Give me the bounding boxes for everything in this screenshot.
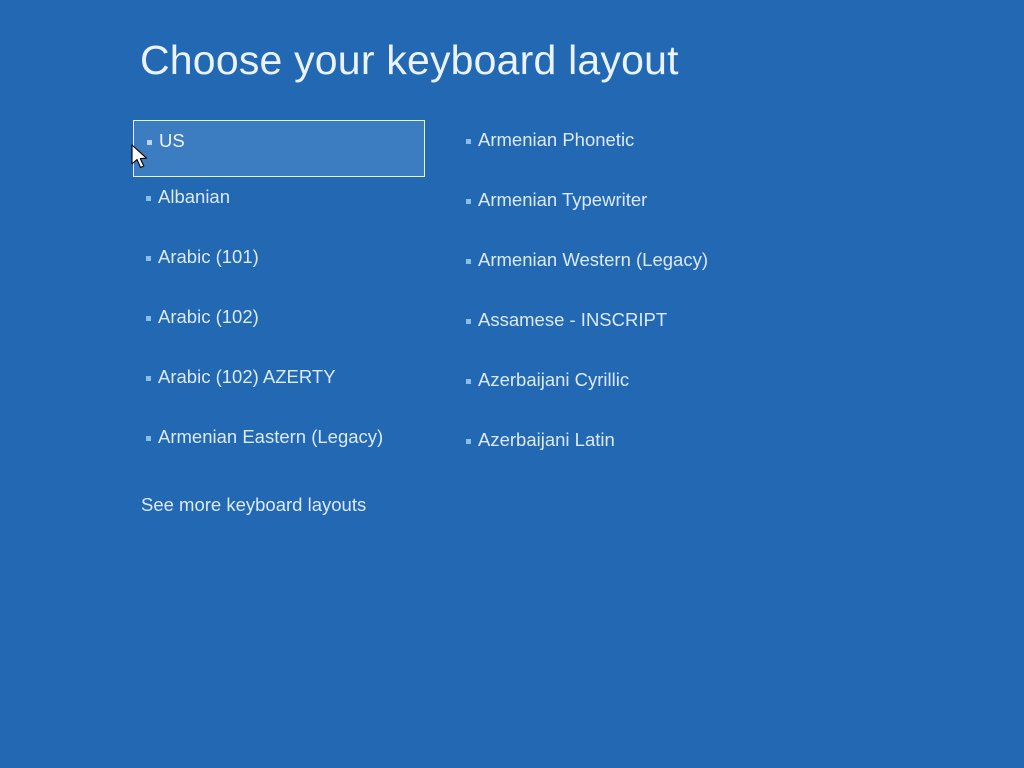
keyboard-layout-label: Azerbaijani Latin: [478, 429, 615, 451]
keyboard-layout-option[interactable]: Assamese - INSCRIPT: [455, 300, 785, 360]
square-bullet-icon: [146, 256, 151, 261]
keyboard-layout-option[interactable]: Azerbaijani Cyrillic: [455, 360, 785, 420]
page-title: Choose your keyboard layout: [140, 38, 679, 83]
keyboard-layout-option[interactable]: Armenian Typewriter: [455, 180, 785, 240]
keyboard-layout-option[interactable]: Albanian: [133, 177, 425, 237]
keyboard-layout-label: Azerbaijani Cyrillic: [478, 369, 629, 391]
square-bullet-icon: [466, 199, 471, 204]
square-bullet-icon: [146, 316, 151, 321]
keyboard-layout-label: US: [159, 130, 185, 152]
square-bullet-icon: [466, 319, 471, 324]
square-bullet-icon: [147, 140, 152, 145]
square-bullet-icon: [146, 376, 151, 381]
square-bullet-icon: [146, 196, 151, 201]
keyboard-layout-label: Armenian Eastern (Legacy): [158, 426, 383, 448]
keyboard-layout-list-left: USAlbanianArabic (101)Arabic (102)Arabic…: [133, 120, 425, 477]
keyboard-layout-label: Assamese - INSCRIPT: [478, 309, 667, 331]
keyboard-layout-option[interactable]: Armenian Phonetic: [455, 120, 785, 180]
keyboard-layout-option[interactable]: Arabic (102) AZERTY: [133, 357, 425, 417]
keyboard-layout-option[interactable]: Armenian Eastern (Legacy): [133, 417, 425, 477]
keyboard-layout-option-selected[interactable]: US: [133, 120, 425, 177]
square-bullet-icon: [146, 436, 151, 441]
keyboard-layout-label: Arabic (101): [158, 246, 259, 268]
keyboard-layout-label: Arabic (102): [158, 306, 259, 328]
keyboard-layout-label: Albanian: [158, 186, 230, 208]
keyboard-layout-label: Armenian Phonetic: [478, 129, 634, 151]
square-bullet-icon: [466, 379, 471, 384]
keyboard-layout-option[interactable]: Azerbaijani Latin: [455, 420, 785, 480]
keyboard-layout-label: Arabic (102) AZERTY: [158, 366, 336, 388]
see-more-keyboard-layouts-link[interactable]: See more keyboard layouts: [141, 494, 366, 516]
keyboard-layout-label: Armenian Western (Legacy): [478, 249, 708, 271]
square-bullet-icon: [466, 259, 471, 264]
keyboard-layout-label: Armenian Typewriter: [478, 189, 647, 211]
keyboard-layout-option[interactable]: Arabic (102): [133, 297, 425, 357]
keyboard-layout-option[interactable]: Arabic (101): [133, 237, 425, 297]
square-bullet-icon: [466, 139, 471, 144]
square-bullet-icon: [466, 439, 471, 444]
keyboard-layout-option[interactable]: Armenian Western (Legacy): [455, 240, 785, 300]
keyboard-layout-screen: Choose your keyboard layout USAlbanianAr…: [0, 0, 1024, 768]
keyboard-layout-list-right: Armenian PhoneticArmenian TypewriterArme…: [455, 120, 785, 480]
